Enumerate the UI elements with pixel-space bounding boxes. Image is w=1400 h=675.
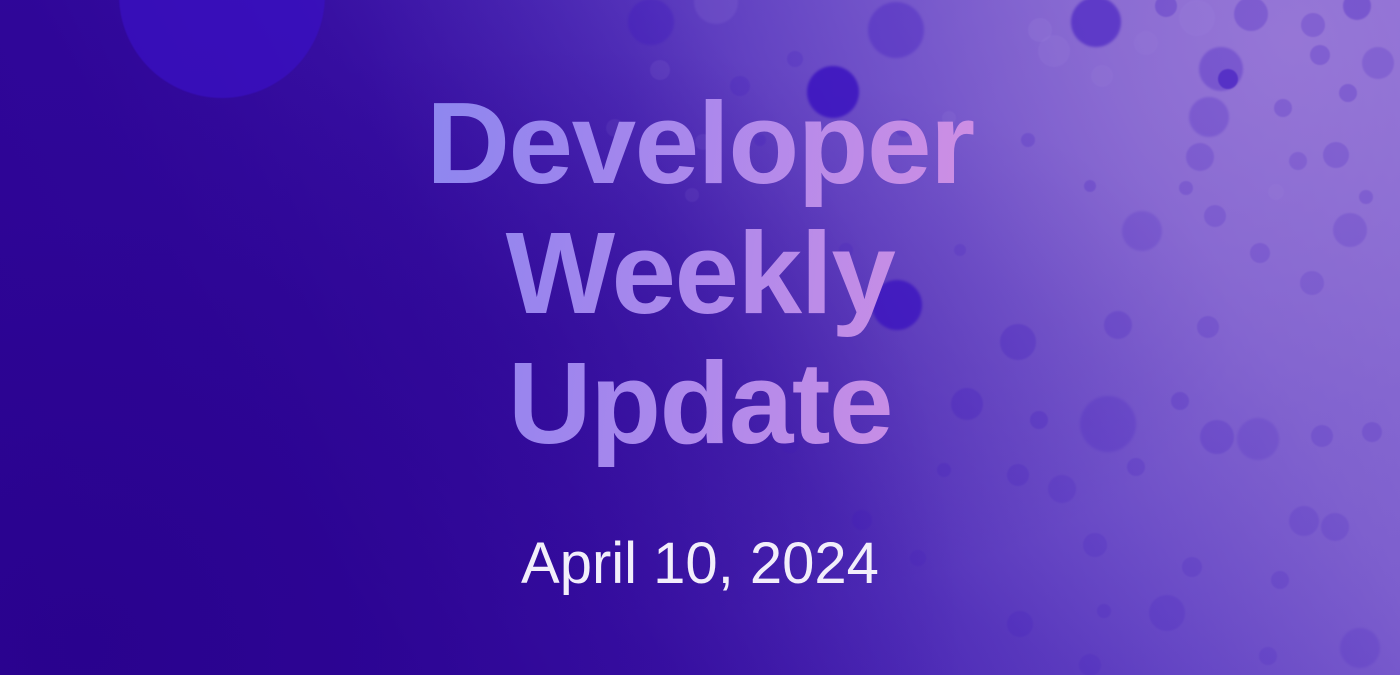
banner-content: Developer Weekly Update April 10, 2024: [0, 0, 1400, 675]
page-title: Developer Weekly Update: [320, 78, 1080, 468]
banner-date: April 10, 2024: [521, 530, 879, 597]
developer-weekly-update-banner: Developer Weekly Update April 10, 2024: [0, 0, 1400, 675]
